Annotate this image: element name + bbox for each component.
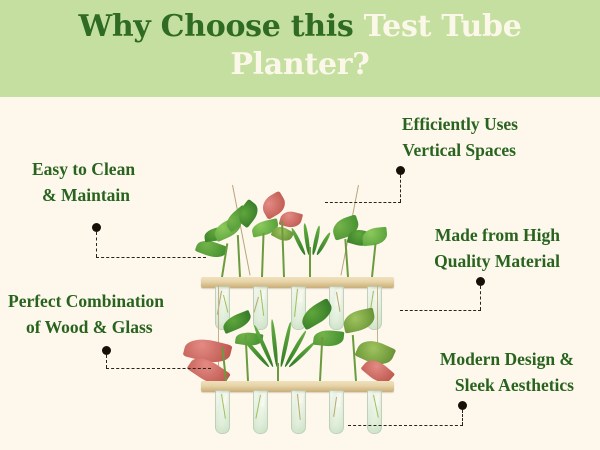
stem xyxy=(277,363,279,383)
title-accent-line2: Planter? xyxy=(230,47,369,82)
leader-line-vertical xyxy=(106,355,107,368)
leader-line-horizontal xyxy=(400,310,481,311)
callout-made-from-high-quality-material: Made from High Quality Material xyxy=(380,222,560,274)
stem xyxy=(309,247,311,277)
stem xyxy=(261,233,264,277)
leader-line-vertical xyxy=(462,410,463,425)
callout-line1: Efficiently Uses xyxy=(316,111,518,137)
callout-dot-modern-design xyxy=(458,401,467,410)
leader-line-vertical xyxy=(480,286,481,310)
callout-easy-to-clean: Easy to Clean & Maintain xyxy=(32,156,135,208)
callout-dot-made-from-high-quality-material xyxy=(476,277,485,286)
stem xyxy=(352,335,357,381)
callout-line1: Modern Design & xyxy=(382,346,574,372)
callout-line2: & Maintain xyxy=(32,182,135,208)
test-tube xyxy=(215,390,230,434)
callout-line2: Quality Material xyxy=(380,248,560,274)
leader-line-vertical xyxy=(400,175,401,202)
callout-dot-perfect-combination xyxy=(102,346,111,355)
infographic-canvas: Why Choose this Test Tube Planter? xyxy=(0,0,600,450)
callout-line1: Perfect Combination xyxy=(8,288,164,314)
leader-line-horizontal xyxy=(96,257,206,258)
test-tube xyxy=(253,286,268,330)
test-tube xyxy=(329,390,344,434)
test-tube-planter-illustration xyxy=(195,185,400,433)
title-accent-line1: Test Tube xyxy=(364,9,522,44)
page-title: Why Choose this Test Tube Planter? xyxy=(0,8,600,84)
callout-perfect-combination-of-wood-and-glass: Perfect Combination of Wood & Glass xyxy=(8,288,164,340)
callout-line2: Sleek Aesthetics xyxy=(382,372,574,398)
leader-line-horizontal xyxy=(348,425,463,426)
callout-line1: Easy to Clean xyxy=(32,156,135,182)
tube-water xyxy=(368,405,381,433)
callout-modern-design-sleek-aesthetics: Modern Design & Sleek Aesthetics xyxy=(382,346,574,398)
stem xyxy=(237,235,241,277)
tube-water xyxy=(330,407,343,433)
callout-efficiently-uses-vertical-spaces: Efficiently Uses Vertical Spaces xyxy=(316,111,518,163)
callout-dot-efficiently-uses-vertical-spaces xyxy=(396,166,405,175)
test-tube xyxy=(291,390,306,434)
leader-line-horizontal xyxy=(325,202,401,203)
leaf xyxy=(313,329,345,348)
callout-line1: Made from High xyxy=(380,222,560,248)
callout-dot-easy-to-clean xyxy=(92,223,101,232)
leader-line-horizontal xyxy=(106,368,211,369)
callout-line2: Vertical Spaces xyxy=(316,137,518,163)
test-tube xyxy=(367,390,382,434)
callout-line2: of Wood & Glass xyxy=(8,314,164,340)
stem xyxy=(371,243,376,277)
test-tube xyxy=(253,390,268,434)
leader-line-vertical xyxy=(96,232,97,257)
title-lead-text: Why Choose this xyxy=(78,9,363,44)
